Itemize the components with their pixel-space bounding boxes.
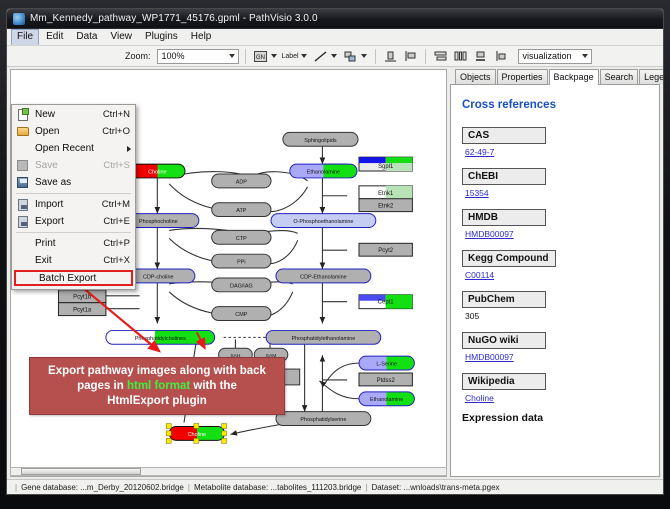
xref-source-label: PubChem <box>462 291 546 308</box>
file-menu-label: Import <box>31 199 102 210</box>
svg-text:Ethanolamine: Ethanolamine <box>307 169 340 175</box>
file-menu-item-new[interactable]: New Ctrl+N <box>12 106 135 123</box>
gene-node-etnk1: Etnk1 <box>359 186 412 199</box>
zoom-label: Zoom: <box>125 51 151 61</box>
metabolite-node-adp: ADP <box>212 174 271 188</box>
file-menu-shortcut: Ctrl+X <box>103 255 135 266</box>
status-divider: | <box>15 483 17 492</box>
distribute-tool-icon[interactable] <box>452 48 469 64</box>
save-as-icon <box>14 176 31 190</box>
svg-text:Phosphocholine: Phosphocholine <box>139 219 178 225</box>
svg-text:Pcyt1b: Pcyt1b <box>73 295 92 301</box>
file-menu-label: Exit <box>31 255 103 266</box>
import-icon <box>14 198 31 212</box>
xref-chebi: ChEBI 15354 <box>462 166 650 198</box>
menu-help[interactable]: Help <box>185 29 218 45</box>
xref-source-label: HMDB <box>462 209 546 226</box>
svg-text:PPi: PPi <box>237 260 245 266</box>
menu-view[interactable]: View <box>104 29 138 45</box>
xref-nugo-wiki: NuGO wiki HMDB00097 <box>462 330 650 362</box>
gene-database-value: ...m_Derby_20120602.bridge <box>80 483 184 492</box>
svg-text:Choline: Choline <box>148 169 166 175</box>
gene-node-ptdss2: Ptdss2 <box>359 373 412 386</box>
file-menu-item-batch-export[interactable]: Batch Export <box>14 270 133 286</box>
xref-value: 305 <box>465 311 650 321</box>
new-document-icon <box>14 108 31 122</box>
tab-objects[interactable]: Objects <box>455 69 496 84</box>
file-menu-label: Open <box>31 126 102 137</box>
window-titlebar: Mm_Kennedy_pathway_WP1771_45176.gpml - P… <box>7 9 663 29</box>
file-menu-item-exit[interactable]: Exit Ctrl+X <box>12 252 135 269</box>
submenu-arrow-icon <box>127 146 131 152</box>
xref-link[interactable]: Choline <box>465 393 650 403</box>
svg-text:Etnk1: Etnk1 <box>378 191 393 197</box>
xref-wikipedia: Wikipedia Choline <box>462 371 650 403</box>
zoom-value: 100% <box>162 51 185 61</box>
file-menu-label: Open Recent <box>31 143 127 154</box>
align-left-tool-icon[interactable] <box>402 48 419 64</box>
status-divider: | <box>188 483 190 492</box>
stack-tool-icon[interactable] <box>472 48 489 64</box>
xref-link[interactable]: 15354 <box>465 188 650 198</box>
metabolite-node-choline-top: Choline <box>130 164 185 178</box>
annotation-line-3: HtmlExport plugin <box>107 395 207 407</box>
svg-text:Cept1: Cept1 <box>378 300 394 306</box>
file-menu-label: Save as <box>31 177 130 188</box>
tab-legend[interactable]: Legend <box>639 69 664 84</box>
svg-text:L-Serine: L-Serine <box>376 362 397 368</box>
svg-text:O-Phosphoethanolamine: O-Phosphoethanolamine <box>293 219 353 225</box>
svg-text:ADP: ADP <box>236 179 248 185</box>
metabolite-node-ethanolamine-top: Ethanolamine <box>290 164 357 178</box>
file-menu-label: Save <box>31 160 103 171</box>
gene-node-cept1: Cept1 <box>359 295 412 309</box>
xref-link[interactable]: HMDB00097 <box>465 352 650 362</box>
annotation-callout: Export pathway images along with back pa… <box>29 357 285 415</box>
xref-link[interactable]: C00114 <box>465 270 650 280</box>
file-menu-label: Export <box>31 216 103 227</box>
pathvisio-window: Mm_Kennedy_pathway_WP1771_45176.gpml - P… <box>6 8 664 495</box>
svg-text:Sphingolipids: Sphingolipids <box>304 138 337 144</box>
svg-text:Ptdss2: Ptdss2 <box>377 378 395 384</box>
menubar: File Edit Data View Plugins Help <box>7 29 663 46</box>
label-tool-dropdown-icon[interactable] <box>301 54 307 58</box>
toolbar-separator <box>245 49 246 64</box>
svg-text:GN: GN <box>256 55 265 61</box>
backpage-content: Cross references CAS 62-49-7 ChEBI 15354… <box>450 85 660 477</box>
chevron-down-icon <box>582 54 588 58</box>
gene-node-sgpl1: Sgpl1 <box>359 157 412 171</box>
menu-file[interactable]: File <box>11 29 39 45</box>
menu-edit[interactable]: Edit <box>40 29 69 45</box>
no-icon <box>14 237 31 251</box>
annotation-line-1: Export pathway images along with back <box>48 365 266 377</box>
xref-source-label: CAS <box>462 127 546 144</box>
gene-tool-dropdown-icon[interactable] <box>271 54 277 58</box>
file-menu-popup: New Ctrl+N Open Ctrl+O Open Recent Save … <box>11 104 136 290</box>
side-panel: Objects Properties Backpage Search Legen… <box>450 69 660 477</box>
save-disk-icon <box>14 159 31 173</box>
gene-node-pcyt1a: Pcyt1a <box>58 303 105 316</box>
metabolite-node-cmp: CMP <box>212 307 271 321</box>
gene-node-etnk2: Etnk2 <box>359 199 412 212</box>
xref-pubchem: PubChem 305 <box>462 289 650 321</box>
file-menu-label: New <box>31 109 103 120</box>
xref-source-label: Wikipedia <box>462 373 546 390</box>
file-menu-shortcut: Ctrl+P <box>103 238 135 249</box>
scrollbar-thumb[interactable] <box>21 468 141 475</box>
file-menu-item-print[interactable]: Print Ctrl+P <box>12 235 135 252</box>
xref-cas: CAS 62-49-7 <box>462 125 650 157</box>
xref-hmdb: HMDB HMDB00097 <box>462 207 650 239</box>
shape-tool-icon[interactable] <box>342 48 359 64</box>
xref-source-label: ChEBI <box>462 168 546 185</box>
file-menu-separator <box>16 193 131 194</box>
file-menu-shortcut: Ctrl+S <box>103 160 135 171</box>
open-folder-icon <box>14 125 31 139</box>
pathvisio-icon <box>13 13 25 25</box>
file-menu-label: Batch Export <box>35 273 131 284</box>
label-tool-icon[interactable]: Label <box>282 48 299 64</box>
metabolite-node-o-phosphoethanolamine: O-Phosphoethanolamine <box>271 214 376 228</box>
chevron-down-icon <box>229 54 235 58</box>
align-center-tool-icon[interactable] <box>432 48 449 64</box>
svg-text:CMP: CMP <box>235 312 247 318</box>
line-tool-icon[interactable] <box>312 48 329 64</box>
expression-data-title: Expression data <box>462 412 650 424</box>
dataset-label: Dataset: <box>371 483 401 492</box>
file-menu-separator-2 <box>16 232 131 233</box>
line-tool-dropdown-icon[interactable] <box>331 54 337 58</box>
dataset-value: ...wnloads\trans-meta.pgex <box>403 483 499 492</box>
gene-product-tool-icon[interactable]: GN <box>252 48 269 64</box>
file-menu-item-save: Save Ctrl+S <box>12 157 135 174</box>
metabolite-node-choline-selected[interactable]: Choline <box>166 424 226 444</box>
file-menu-item-open-recent[interactable]: Open Recent <box>12 140 135 157</box>
window-title: Mm_Kennedy_pathway_WP1771_45176.gpml - P… <box>30 13 318 24</box>
gene-database-label: Gene database: <box>21 483 78 492</box>
svg-text:Etnk2: Etnk2 <box>378 204 393 210</box>
svg-text:Pcyt2: Pcyt2 <box>378 248 393 254</box>
export-icon <box>14 215 31 229</box>
tab-properties[interactable]: Properties <box>497 69 548 84</box>
svg-text:CTP: CTP <box>236 236 247 242</box>
file-menu-item-import[interactable]: Import Ctrl+M <box>12 196 135 213</box>
visualization-combo[interactable]: visualization <box>518 49 592 64</box>
group-tool-icon[interactable] <box>492 48 509 64</box>
xref-link[interactable]: 62-49-7 <box>465 147 650 157</box>
metabolite-node-phosphatidylethanolamine: Phosphatidylethanolamine <box>266 330 381 344</box>
statusbar: | Gene database: ...m_Derby_20120602.bri… <box>7 479 663 494</box>
visualization-value: visualization <box>523 51 572 61</box>
svg-text:Phosphatidylserine: Phosphatidylserine <box>300 417 346 423</box>
svg-text:Choline: Choline <box>188 432 206 438</box>
file-menu-label: Print <box>31 238 103 249</box>
toolbar-separator-2 <box>375 49 376 64</box>
align-top-tool-icon[interactable] <box>382 48 399 64</box>
metabolite-node-cdp-ethanolamine: CDP-Ethanolamine <box>276 269 371 283</box>
no-icon <box>14 142 31 156</box>
svg-text:Sgpl1: Sgpl1 <box>378 164 393 170</box>
main-body: Sgpl1 Etnk1 Etnk2 Pc <box>7 67 663 479</box>
menu-plugins[interactable]: Plugins <box>139 29 184 45</box>
tab-search[interactable]: Search <box>600 69 639 84</box>
metabolite-database-label: Metabolite database: <box>194 483 268 492</box>
status-divider: | <box>365 483 367 492</box>
zoom-combo[interactable]: 100% <box>157 49 239 64</box>
metabolite-node-dag-iag: DAG/IAG <box>212 278 271 292</box>
shape-tool-dropdown-icon[interactable] <box>361 54 367 58</box>
metabolite-node-l-serine: L-Serine <box>359 356 414 370</box>
annotation-text: Export pathway images along with back pa… <box>41 364 273 409</box>
menu-data[interactable]: Data <box>70 29 103 45</box>
svg-text:CDP-Ethanolamine: CDP-Ethanolamine <box>300 274 347 280</box>
cross-references-title: Cross references <box>462 99 650 111</box>
svg-text:Ethanolamine: Ethanolamine <box>370 397 403 403</box>
metabolite-node-ppi: PPi <box>212 254 271 268</box>
side-panel-tabs: Objects Properties Backpage Search Legen… <box>450 69 660 85</box>
no-icon <box>14 254 31 268</box>
xref-source-label: Kegg Compound <box>462 250 556 267</box>
no-icon <box>18 271 35 285</box>
svg-text:Phosphatidylethanolamine: Phosphatidylethanolamine <box>292 336 356 342</box>
file-menu-item-open[interactable]: Open Ctrl+O <box>12 123 135 140</box>
xref-link[interactable]: HMDB00097 <box>465 229 650 239</box>
canvas-horizontal-scrollbar[interactable] <box>10 467 447 476</box>
file-menu-item-save-as[interactable]: Save as <box>12 174 135 191</box>
svg-text:Pcyt1a: Pcyt1a <box>73 308 92 314</box>
svg-text:DAG/IAG: DAG/IAG <box>230 283 253 289</box>
file-menu-shortcut: Ctrl+M <box>102 199 135 210</box>
file-menu-shortcut: Ctrl+N <box>103 109 135 120</box>
metabolite-node-phosphatidylserine: Phosphatidylserine <box>276 412 371 426</box>
annotation-highlight: html format <box>127 380 190 392</box>
metabolite-node-ethanolamine-bottom: Ethanolamine <box>359 392 414 406</box>
svg-text:CDP-choline: CDP-choline <box>143 274 174 280</box>
metabolite-node-ctp: CTP <box>212 230 271 244</box>
metabolite-node-sphingolipids: Sphingolipids <box>283 132 358 146</box>
annotation-line-2-post: with the <box>190 380 237 392</box>
annotation-line-2-pre: pages in <box>77 380 127 392</box>
xref-source-label: NuGO wiki <box>462 332 546 349</box>
svg-text:ATP: ATP <box>236 208 247 214</box>
toolbar-separator-3 <box>425 49 426 64</box>
file-menu-shortcut: Ctrl+E <box>103 216 135 227</box>
screenshot-root: Mm_Kennedy_pathway_WP1771_45176.gpml - P… <box>0 0 670 509</box>
toolbar: Zoom: 100% GN Label <box>7 46 663 67</box>
metabolite-database-value: ...tabolites_111203.bridge <box>270 483 361 492</box>
xref-kegg-compound: Kegg Compound C00114 <box>462 248 650 280</box>
gene-node-pcyt2: Pcyt2 <box>359 243 412 256</box>
metabolite-node-atp: ATP <box>212 203 271 217</box>
file-menu-item-export[interactable]: Export Ctrl+E <box>12 213 135 230</box>
file-menu-shortcut: Ctrl+O <box>102 126 135 137</box>
tab-backpage[interactable]: Backpage <box>549 69 599 85</box>
